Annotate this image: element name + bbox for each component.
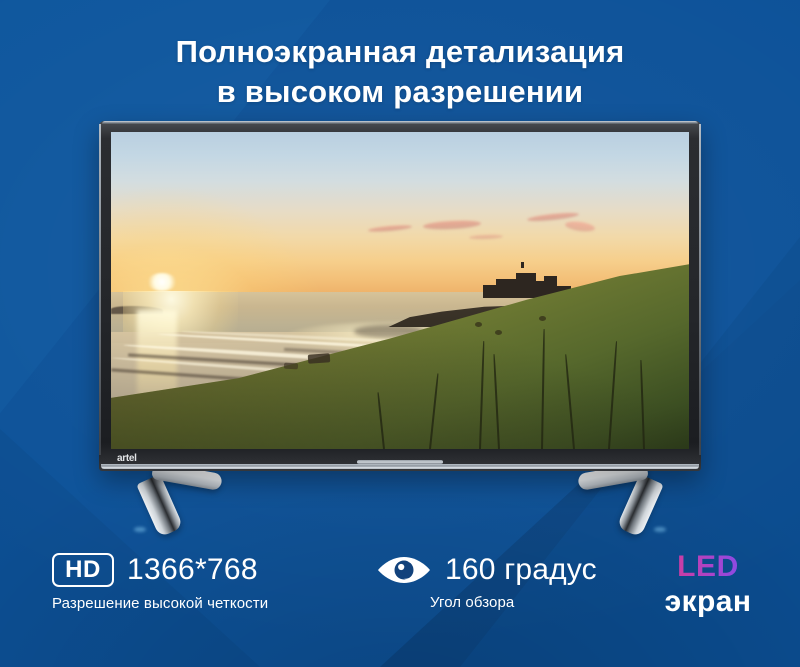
- led-screen-label: экран: [628, 585, 788, 618]
- page-title: Полноэкранная детализация в высоком разр…: [0, 32, 800, 111]
- viewing-angle-caption: Угол обзора: [430, 594, 627, 611]
- resolution-value: 1366*768: [127, 553, 258, 587]
- tv-bezel-top-highlight: [102, 121, 698, 124]
- resolution-caption: Разрешение высокой четкости: [52, 595, 342, 612]
- hd-badge: HD: [52, 553, 114, 587]
- feature-resolution: HD 1366*768 Разрешение высокой четкости: [52, 553, 342, 612]
- headline-line-1: Полноэкранная детализация: [176, 34, 625, 69]
- tv-bezel-left-highlight: [99, 124, 101, 455]
- scene-driftwood: [284, 363, 298, 370]
- scene-castle-spire: [521, 262, 524, 268]
- viewing-angle-value: 160 градус: [445, 553, 597, 587]
- television: artel: [99, 121, 701, 471]
- feature-row: HD 1366*768 Разрешение высокой четкости …: [0, 545, 800, 645]
- feature-viewing-angle: 160 градус Угол обзора: [377, 553, 627, 611]
- feature-viewing-angle-headline: 160 градус: [377, 553, 627, 587]
- tv-bezel-bottom-strip: [101, 464, 699, 469]
- headline-line-2: в высоком разрешении: [0, 72, 800, 112]
- scene-driftwood: [307, 353, 330, 364]
- tv-stand-leg-right-glow: [654, 527, 666, 532]
- tv-stand-leg-left: [128, 468, 238, 530]
- scene-sun: [147, 273, 177, 291]
- tv-bezel: artel: [99, 121, 701, 471]
- tv-bezel-right-highlight: [699, 124, 701, 455]
- tv-brand-logo: artel: [117, 453, 137, 464]
- promo-poster: Полноэкранная детализация в высоком разр…: [0, 0, 800, 667]
- feature-resolution-headline: HD 1366*768: [52, 553, 342, 587]
- led-label: LED: [628, 551, 788, 583]
- scene-castle-block: [496, 279, 518, 298]
- eye-icon: [377, 554, 431, 586]
- tv-screen: [111, 132, 689, 449]
- feature-led-screen: LED экран: [628, 551, 788, 618]
- tv-stand-leg-left-glow: [134, 527, 146, 532]
- scene-seed-head: [539, 316, 546, 321]
- tv-stand-leg-right: [562, 468, 672, 530]
